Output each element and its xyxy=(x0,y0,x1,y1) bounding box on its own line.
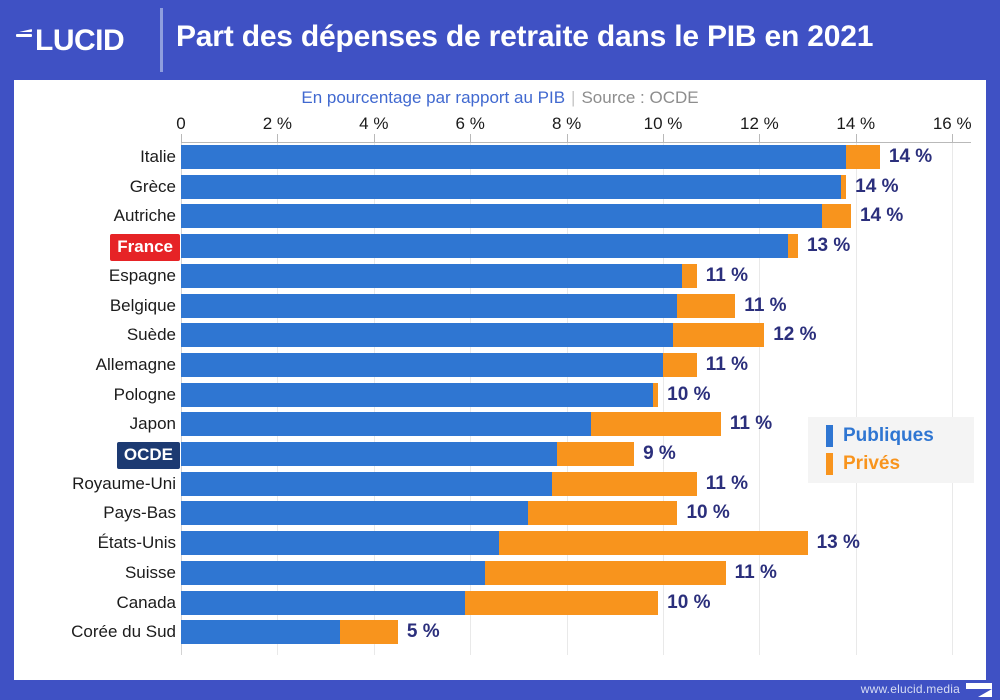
x-tick-label: 2 % xyxy=(263,114,292,134)
chart-row: États-Unis13 % xyxy=(14,529,986,559)
bar-total-label: 10 % xyxy=(686,500,729,526)
bar-prives xyxy=(499,531,807,555)
row-label-allemagne: Allemagne xyxy=(0,353,176,377)
bar-total-label: 11 % xyxy=(744,293,786,319)
bar-total-label: 13 % xyxy=(807,233,850,259)
bar-prives xyxy=(822,204,851,228)
elucid-arrow-icon xyxy=(966,683,992,697)
subtitle-measure: En pourcentage par rapport au PIB xyxy=(301,88,565,107)
bar-publiques xyxy=(181,175,841,199)
chart-row: Grèce14 % xyxy=(14,173,986,203)
bar-publiques xyxy=(181,501,528,525)
row-label-pays-bas: Pays-Bas xyxy=(0,501,176,525)
row-label-italie: Italie xyxy=(0,145,176,169)
row-label-cor-e-du-sud: Corée du Sud xyxy=(0,620,176,644)
x-tick-label: 0 xyxy=(176,114,185,134)
bar-prives xyxy=(663,353,697,377)
bar-publiques xyxy=(181,383,653,407)
legend-swatch-prives-icon xyxy=(826,453,833,475)
elucid-e-accent-icon xyxy=(16,29,32,49)
bar-publiques xyxy=(181,204,822,228)
bar-total-label: 11 % xyxy=(735,560,777,586)
chart-legend: Publiques Privés xyxy=(808,417,974,483)
legend-item-prives[interactable]: Privés xyxy=(826,449,900,479)
row-label-canada: Canada xyxy=(0,591,176,615)
bar-total-label: 13 % xyxy=(817,530,860,556)
infographic-root: LUCID Part des dépenses de retraite dans… xyxy=(0,0,1000,700)
bar-prives xyxy=(557,442,634,466)
row-label--tats-unis: États-Unis xyxy=(0,531,176,555)
row-label-pologne: Pologne xyxy=(0,383,176,407)
bar-publiques xyxy=(181,531,499,555)
legend-swatch-publiques-icon xyxy=(826,425,833,447)
x-tick-label: 4 % xyxy=(359,114,388,134)
bar-publiques xyxy=(181,145,846,169)
chart-row: Canada10 % xyxy=(14,589,986,619)
bar-total-label: 9 % xyxy=(643,441,676,467)
bar-publiques xyxy=(181,323,673,347)
row-label-su-de: Suède xyxy=(0,323,176,347)
header-bar: LUCID Part des dépenses de retraite dans… xyxy=(0,0,1000,80)
elucid-logo: LUCID xyxy=(16,24,156,58)
bar-publiques xyxy=(181,472,552,496)
bar-total-label: 10 % xyxy=(667,382,710,408)
legend-label-prives: Privés xyxy=(843,453,900,475)
chart-row: Espagne11 % xyxy=(14,262,986,292)
row-label-japon: Japon xyxy=(0,412,176,436)
chart-row: France13 % xyxy=(14,232,986,262)
x-tick-label: 6 % xyxy=(456,114,485,134)
x-tick-label: 16 % xyxy=(933,114,972,134)
bar-publiques xyxy=(181,353,663,377)
row-label-gr-ce: Grèce xyxy=(0,175,176,199)
watermark-url: www.elucid.media xyxy=(861,682,960,696)
footer-bar: www.elucid.media xyxy=(0,680,1000,700)
bar-prives xyxy=(552,472,697,496)
x-tick-label: 8 % xyxy=(552,114,581,134)
row-label-ocde: OCDE xyxy=(117,442,180,469)
logo-wordmark: LUCID xyxy=(35,26,124,56)
bar-prives xyxy=(485,561,726,585)
header-divider xyxy=(160,8,163,72)
bar-total-label: 11 % xyxy=(730,411,772,437)
chart-row: Belgique11 % xyxy=(14,292,986,322)
bar-prives xyxy=(682,264,696,288)
bar-publiques xyxy=(181,561,485,585)
bar-publiques xyxy=(181,234,788,258)
x-tick-label: 12 % xyxy=(740,114,779,134)
chart-subtitle: En pourcentage par rapport au PIB|Source… xyxy=(14,88,986,108)
bar-prives xyxy=(591,412,721,436)
bar-prives xyxy=(846,145,880,169)
x-tick-label: 14 % xyxy=(836,114,875,134)
legend-item-publiques[interactable]: Publiques xyxy=(826,421,934,451)
bar-total-label: 14 % xyxy=(855,174,898,200)
row-label-royaume-uni: Royaume-Uni xyxy=(0,472,176,496)
chart-row: Corée du Sud5 % xyxy=(14,618,986,648)
bar-prives xyxy=(677,294,735,318)
bar-total-label: 11 % xyxy=(706,471,748,497)
chart-row: Autriche14 % xyxy=(14,202,986,232)
bar-prives xyxy=(465,591,658,615)
bar-total-label: 14 % xyxy=(889,144,932,170)
bar-publiques xyxy=(181,264,682,288)
bar-publiques xyxy=(181,591,465,615)
row-label-belgique: Belgique xyxy=(0,294,176,318)
chart-row: Pays-Bas10 % xyxy=(14,499,986,529)
bar-prives xyxy=(653,383,658,407)
subtitle-separator: | xyxy=(565,88,581,107)
bar-total-label: 14 % xyxy=(860,203,903,229)
chart-row: Italie14 % xyxy=(14,143,986,173)
chart-panel: En pourcentage par rapport au PIB|Source… xyxy=(14,80,986,680)
chart-row: Suisse11 % xyxy=(14,559,986,589)
row-label-autriche: Autriche xyxy=(0,204,176,228)
bar-publiques xyxy=(181,412,591,436)
row-label-suisse: Suisse xyxy=(0,561,176,585)
row-label-espagne: Espagne xyxy=(0,264,176,288)
bar-total-label: 12 % xyxy=(773,322,816,348)
chart-row: Allemagne11 % xyxy=(14,351,986,381)
subtitle-source: Source : OCDE xyxy=(581,88,698,107)
chart-row: Suède12 % xyxy=(14,321,986,351)
bar-prives xyxy=(340,620,398,644)
bar-total-label: 11 % xyxy=(706,263,748,289)
bar-total-label: 11 % xyxy=(706,352,748,378)
bar-total-label: 10 % xyxy=(667,590,710,616)
row-label-france: France xyxy=(110,234,180,261)
bar-prives xyxy=(788,234,798,258)
bar-total-label: 5 % xyxy=(407,619,440,645)
bar-publiques xyxy=(181,620,340,644)
bar-prives xyxy=(673,323,765,347)
chart-row: Pologne10 % xyxy=(14,381,986,411)
bar-publiques xyxy=(181,442,557,466)
bar-prives xyxy=(841,175,846,199)
bars-plot-area: Italie14 %Grèce14 %Autriche14 %France13 … xyxy=(14,143,986,658)
bar-publiques xyxy=(181,294,677,318)
bar-prives xyxy=(528,501,677,525)
x-tick-label: 10 % xyxy=(644,114,683,134)
page-title: Part des dépenses de retraite dans le PI… xyxy=(176,20,990,54)
legend-label-publiques: Publiques xyxy=(843,425,934,447)
